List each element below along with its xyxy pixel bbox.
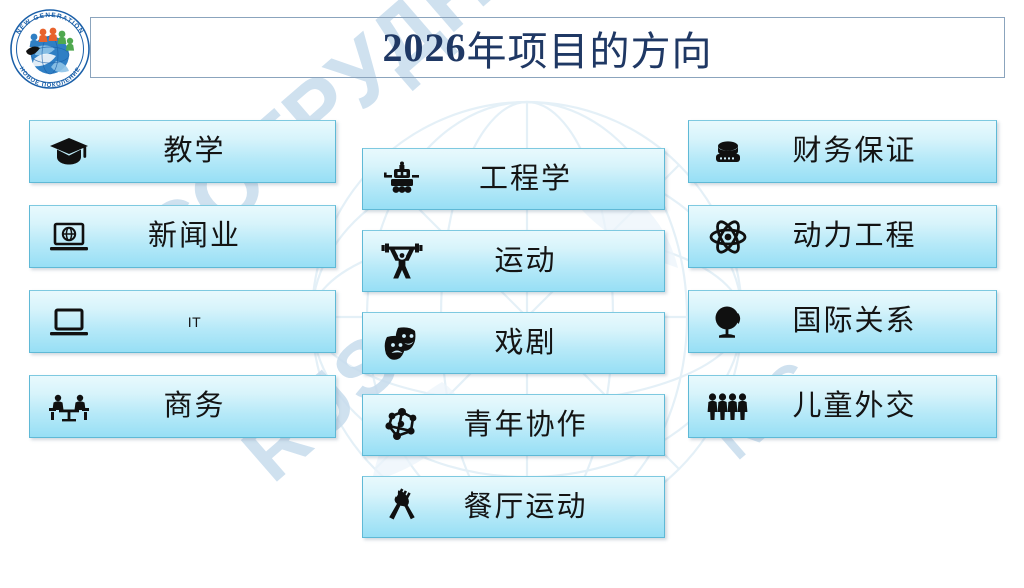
page-title: 2026年项目的方向	[90, 17, 1005, 78]
direction-label: 儿童外交	[759, 392, 996, 421]
direction-label: 工程学	[433, 165, 664, 194]
direction-item-teaching[interactable]: 教学	[29, 120, 336, 183]
direction-label: 戏剧	[433, 329, 664, 358]
molecule-icon	[371, 406, 433, 444]
direction-item-it[interactable]: IT	[29, 290, 336, 353]
direction-column-left: 教学 新闻业 IT	[29, 120, 336, 460]
new-generation-logo: NEW GENERATION НОВОЕ ПОКОЛЕНИЕ	[4, 3, 96, 95]
direction-item-engineering[interactable]: 工程学	[362, 148, 665, 210]
direction-item-business[interactable]: 商务	[29, 375, 336, 438]
direction-item-power-engineering[interactable]: 动力工程	[688, 205, 997, 268]
direction-item-restaurant[interactable]: 餐厅运动	[362, 476, 665, 538]
direction-label: IT	[100, 315, 335, 329]
direction-label: 商务	[100, 392, 335, 421]
people-group-icon	[697, 392, 759, 422]
robot-icon	[371, 160, 433, 198]
graduation-cap-icon	[38, 135, 100, 169]
direction-label: 国际关系	[759, 307, 996, 336]
direction-item-youth-cooperation[interactable]: 青年协作	[362, 394, 665, 456]
direction-item-international-relations[interactable]: 国际关系	[688, 290, 997, 353]
money-roll-icon	[697, 137, 759, 167]
direction-item-sport[interactable]: 运动	[362, 230, 665, 292]
direction-label: 财务保证	[759, 137, 996, 166]
globe-stand-icon	[697, 304, 759, 340]
title-year: 2026	[383, 24, 467, 71]
laptop-globe-icon	[38, 221, 100, 253]
direction-label: 动力工程	[759, 222, 996, 251]
direction-item-financial-guarantee[interactable]: 财务保证	[688, 120, 997, 183]
direction-label: 教学	[100, 137, 335, 166]
direction-item-children-diplomacy[interactable]: 儿童外交	[688, 375, 997, 438]
direction-label: 青年协作	[433, 411, 664, 440]
meeting-table-icon	[38, 391, 100, 423]
weightlifter-icon	[371, 242, 433, 280]
laptop-icon	[38, 306, 100, 338]
direction-label: 新闻业	[100, 222, 335, 251]
slide-root: СОТРУДНИЧЕСТВО RUS NIC	[0, 0, 1024, 588]
direction-label: 运动	[433, 247, 664, 276]
direction-column-right: 财务保证 动力工程 国际关系	[688, 120, 997, 460]
direction-label: 餐厅运动	[433, 493, 664, 522]
title-rest: 年项目的方向	[467, 19, 713, 77]
direction-item-theatre[interactable]: 戏剧	[362, 312, 665, 374]
fork-knife-icon	[371, 488, 433, 526]
direction-item-journalism[interactable]: 新闻业	[29, 205, 336, 268]
atom-icon	[697, 218, 759, 256]
theatre-masks-icon	[371, 325, 433, 361]
direction-column-middle: 工程学 运动	[362, 148, 665, 558]
